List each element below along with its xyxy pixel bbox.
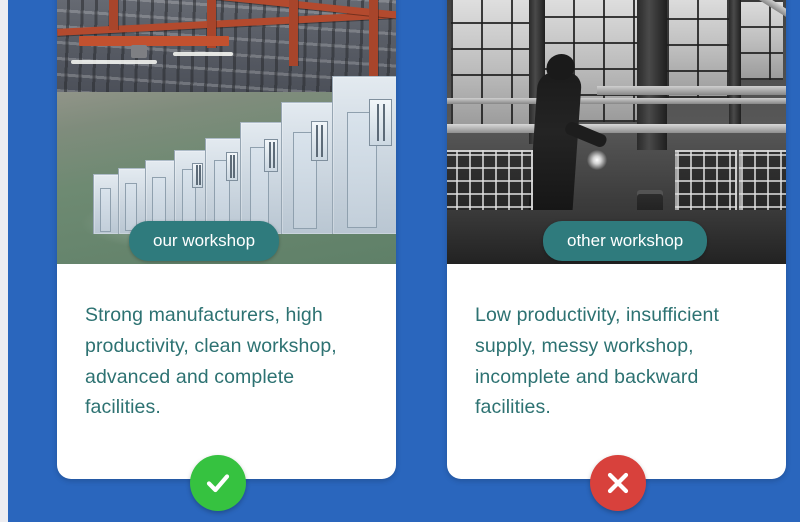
factory-window — [739, 0, 783, 80]
comparison-section: our workshop Strong manufacturers, high … — [0, 0, 800, 522]
conveyor-rail — [597, 86, 786, 95]
unit-window — [226, 152, 238, 181]
prefab-unit — [205, 138, 241, 234]
status-badge-positive — [190, 455, 246, 511]
welding-spark — [587, 150, 607, 170]
prefab-unit — [332, 76, 396, 234]
factory-pillar — [729, 0, 741, 124]
card-description: Strong manufacturers, high productivity,… — [85, 300, 368, 423]
conveyor-rail — [447, 98, 786, 104]
unit-window — [311, 121, 328, 160]
card-body: Strong manufacturers, high productivity,… — [57, 264, 396, 423]
card-body: Low productivity, insufficient supply, m… — [447, 264, 786, 423]
overhead-crane — [79, 36, 229, 46]
roof-column — [109, 0, 118, 30]
factory-window — [451, 0, 529, 128]
other-workshop-photo: other workshop — [447, 0, 786, 264]
prefab-unit — [93, 174, 119, 234]
prefab-unit-row — [57, 64, 396, 234]
card-pill-label: other workshop — [543, 221, 707, 261]
card-pill-label: our workshop — [129, 221, 279, 261]
comparison-card-other-workshop[interactable]: other workshop Low productivity, insuffi… — [447, 0, 786, 479]
status-badge-negative — [590, 455, 646, 511]
prefab-unit — [240, 122, 282, 234]
roof-column — [289, 0, 298, 66]
work-bench — [447, 124, 786, 133]
unit-window — [264, 139, 278, 172]
unit-window — [192, 163, 203, 188]
unit-door — [100, 188, 112, 232]
factory-window — [667, 0, 731, 98]
card-description: Low productivity, insufficient supply, m… — [475, 300, 758, 423]
our-workshop-photo: our workshop — [57, 0, 396, 264]
cross-icon — [603, 468, 633, 498]
comparison-card-our-workshop[interactable]: our workshop Strong manufacturers, high … — [57, 0, 396, 479]
prefab-unit — [281, 102, 333, 234]
check-icon — [202, 467, 234, 499]
worker-figure — [528, 72, 582, 222]
ceiling-light — [173, 52, 233, 56]
unit-window — [369, 99, 391, 146]
